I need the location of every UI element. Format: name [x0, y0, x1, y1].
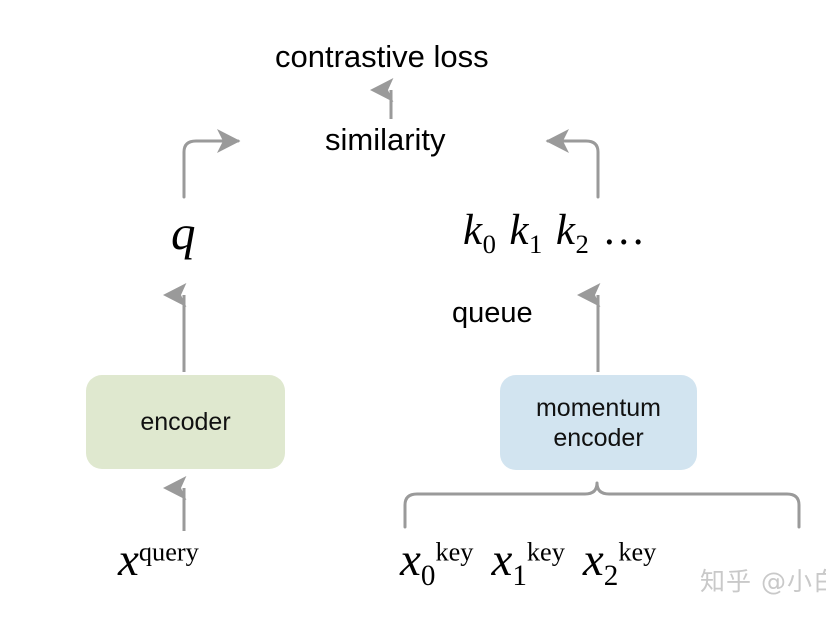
queue-label: queue	[452, 299, 533, 328]
x-key-0: x0key	[400, 534, 473, 586]
x-key-0-base: x	[400, 534, 421, 586]
x-query-base: x	[118, 534, 139, 586]
momentum-encoder-line2: encoder	[553, 424, 643, 452]
x-key-1: x1key	[491, 534, 564, 586]
k1-subscript: 1	[529, 229, 543, 259]
x-key-1-superscript: key	[527, 537, 565, 566]
x-key-2-base: x	[583, 534, 604, 586]
brace-key-inputs	[405, 483, 799, 527]
x-key-1-base: x	[491, 534, 512, 586]
x-query-superscript: query	[139, 537, 199, 566]
x-key-2-superscript: key	[618, 537, 656, 566]
x-query-input-label: xquery	[118, 537, 199, 584]
momentum-encoder-line1: momentum	[536, 394, 661, 422]
x-key-2-subscript: 2	[604, 560, 619, 592]
encoder-box-label: encoder	[140, 407, 230, 437]
similarity-label: similarity	[325, 124, 446, 155]
encoder-box: encoder	[86, 375, 285, 469]
x-key-inputs-label: x0keyx1keyx2key	[400, 537, 656, 591]
keys-ellipsis: …	[602, 207, 646, 254]
k2-base: k	[556, 207, 576, 254]
zhihu-watermark: 知乎 @小白	[700, 562, 826, 598]
moco-diagram-canvas: contrastive loss similarity queue q k0k1…	[0, 0, 826, 634]
x-key-0-superscript: key	[435, 537, 473, 566]
key-representations-label: k0k1k2…	[463, 209, 646, 258]
contrastive-loss-label: contrastive loss	[275, 41, 489, 72]
query-representation-label: q	[171, 208, 196, 257]
momentum-encoder-box-label: momentum encoder	[536, 393, 661, 453]
x-key-0-subscript: 0	[421, 560, 436, 592]
k2-subscript: 2	[575, 229, 589, 259]
k1-base: k	[509, 207, 529, 254]
x-key-1-subscript: 1	[512, 560, 527, 592]
arrow-keys-to-similarity	[548, 141, 598, 197]
k0-base: k	[463, 207, 483, 254]
x-key-2: x2key	[583, 534, 656, 586]
momentum-encoder-box: momentum encoder	[500, 375, 697, 470]
arrow-q-to-similarity	[184, 141, 238, 197]
k0-subscript: 0	[483, 229, 497, 259]
